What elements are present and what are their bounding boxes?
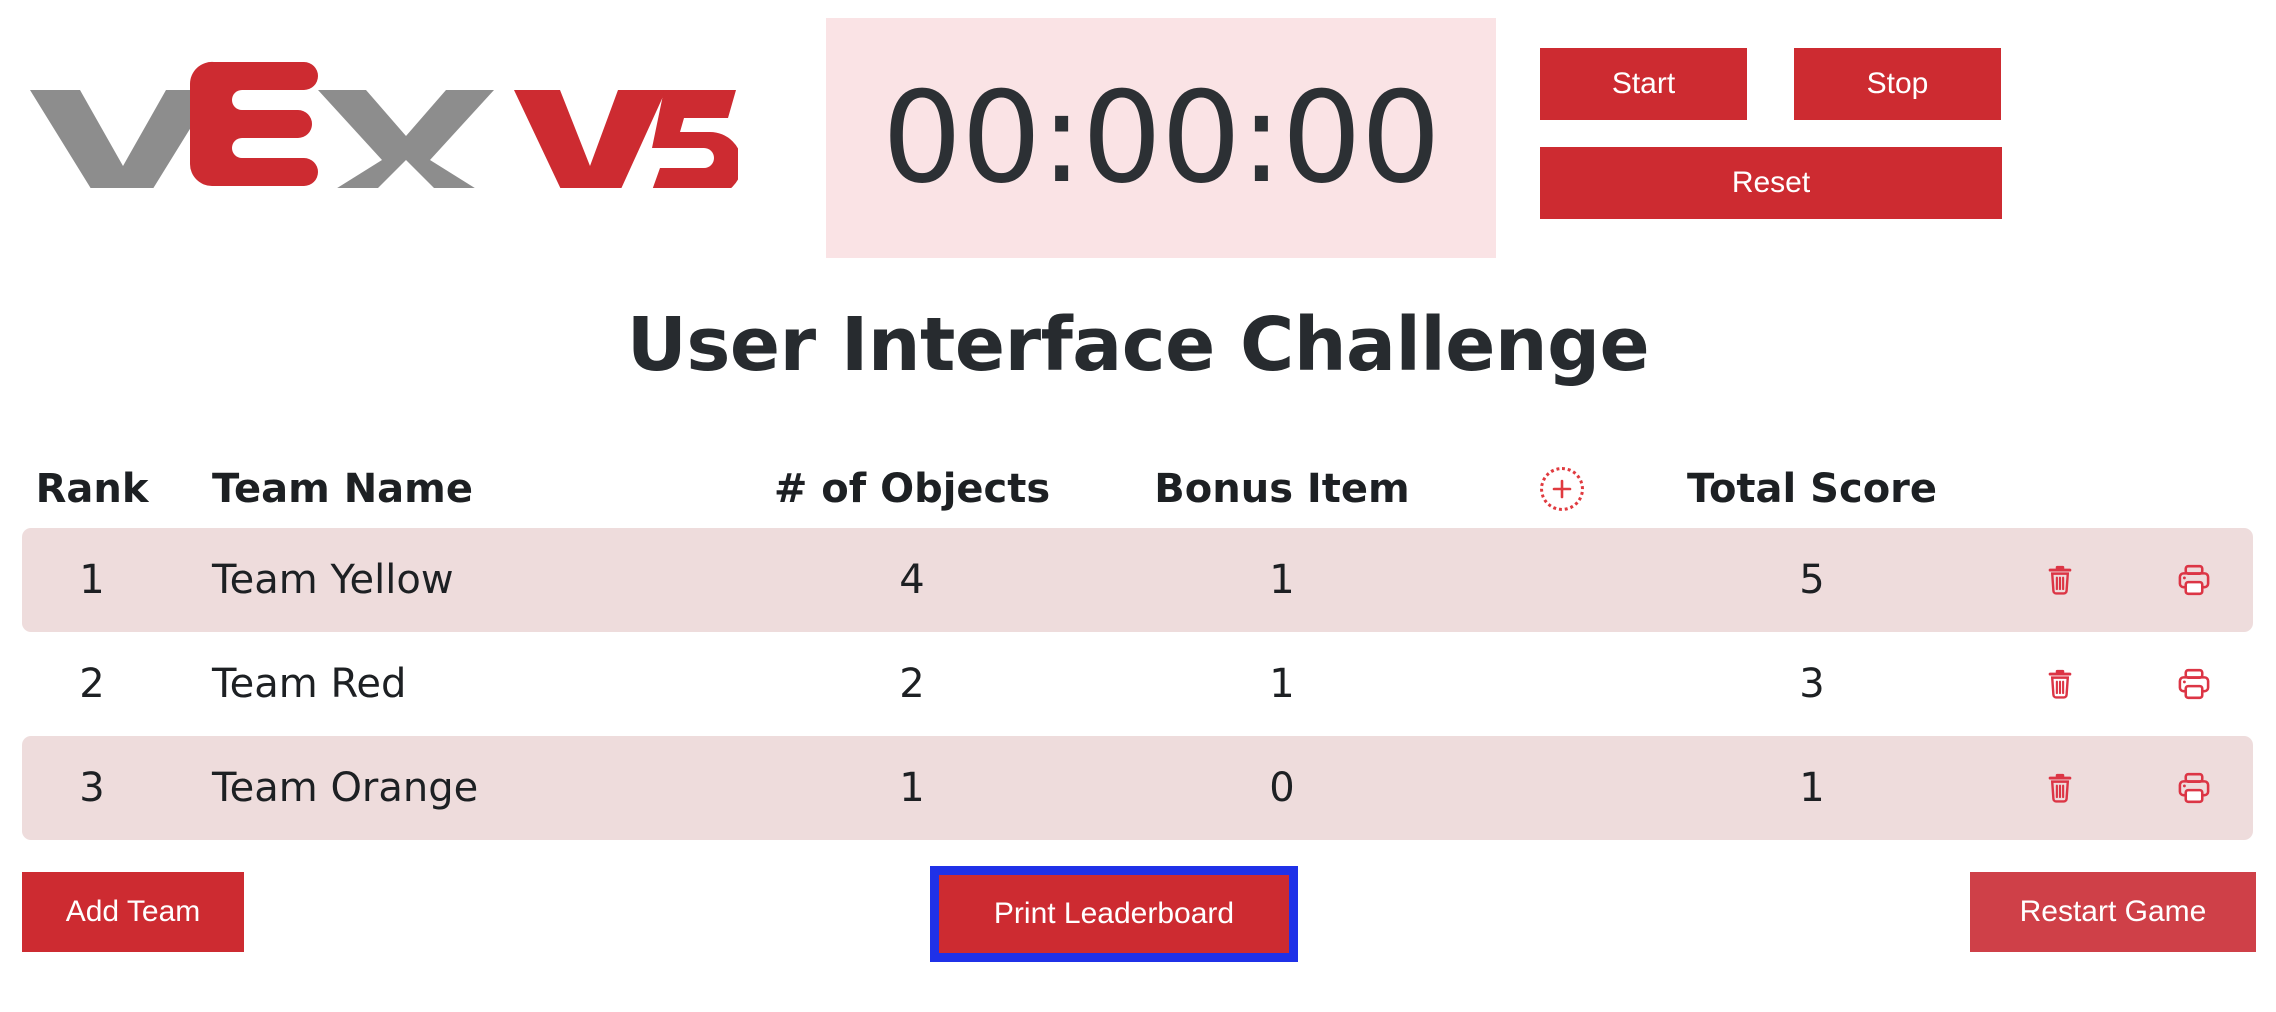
header-team-name: Team Name: [212, 450, 772, 528]
cell-total-score: 1: [1662, 736, 1962, 840]
cell-total-score: 5: [1662, 528, 1962, 632]
printer-icon[interactable]: [2168, 658, 2220, 710]
add-team-button[interactable]: Add Team: [22, 872, 244, 952]
cell-actions: [2012, 632, 2242, 736]
cell-objects[interactable]: 4: [762, 528, 1062, 632]
trash-icon[interactable]: [2034, 554, 2086, 606]
table-row: 1 Team Yellow 4 1 5: [22, 528, 2253, 632]
table-row: 2 Team Red 2 1 3: [22, 632, 2253, 736]
header-objects: # of Objects: [762, 450, 1062, 528]
cell-team-name[interactable]: Team Yellow: [212, 528, 772, 632]
leaderboard-table: Rank Team Name # of Objects Bonus Item T…: [22, 450, 2253, 840]
cell-total-score: 3: [1662, 632, 1962, 736]
cell-objects[interactable]: 1: [762, 736, 1062, 840]
printer-icon[interactable]: [2168, 762, 2220, 814]
page-title: User Interface Challenge: [0, 302, 2276, 388]
trash-icon[interactable]: [2034, 658, 2086, 710]
table-row: 3 Team Orange 1 0 1: [22, 736, 2253, 840]
cell-spacer: [1522, 528, 1602, 632]
header-add-column-cell: [1522, 450, 1602, 528]
cell-rank: 1: [22, 528, 162, 632]
cell-bonus-item[interactable]: 0: [1132, 736, 1432, 840]
cell-bonus-item[interactable]: 1: [1132, 528, 1432, 632]
header-bonus-item: Bonus Item: [1132, 450, 1432, 528]
trash-icon[interactable]: [2034, 762, 2086, 814]
cell-rank: 3: [22, 736, 162, 840]
cell-spacer: [1522, 632, 1602, 736]
header-total-score: Total Score: [1662, 450, 1962, 528]
header-rank: Rank: [22, 450, 162, 528]
timer-display: 00:00:00: [826, 18, 1496, 258]
cell-rank: 2: [22, 632, 162, 736]
print-leaderboard-button[interactable]: Print Leaderboard: [939, 875, 1289, 953]
timer-controls-top-row: Start Stop: [1540, 48, 2002, 120]
cell-actions: [2012, 528, 2242, 632]
top-bar: 00:00:00 Start Stop Reset: [0, 0, 2276, 262]
vex-v5-logo: [18, 48, 738, 188]
cell-team-name[interactable]: Team Orange: [212, 736, 772, 840]
cell-spacer: [1522, 736, 1602, 840]
restart-game-button[interactable]: Restart Game: [1970, 872, 2256, 952]
cell-team-name[interactable]: Team Red: [212, 632, 772, 736]
table-header-row: Rank Team Name # of Objects Bonus Item T…: [22, 450, 2253, 528]
plus-circle-dotted-icon[interactable]: [1540, 467, 1584, 511]
start-button[interactable]: Start: [1540, 48, 1747, 120]
cell-bonus-item[interactable]: 1: [1132, 632, 1432, 736]
timer-value: 00:00:00: [882, 75, 1440, 201]
header-actions: [2012, 450, 2242, 528]
cell-objects[interactable]: 2: [762, 632, 1062, 736]
reset-button[interactable]: Reset: [1540, 147, 2002, 219]
print-leaderboard-focus-ring: Print Leaderboard: [930, 866, 1298, 962]
app-root: 00:00:00 Start Stop Reset User Interface…: [0, 0, 2276, 1012]
timer-controls: Start Stop Reset: [1540, 48, 2002, 219]
footer-actions: Add Team Print Leaderboard Restart Game: [0, 872, 2276, 962]
printer-icon[interactable]: [2168, 554, 2220, 606]
cell-actions: [2012, 736, 2242, 840]
stop-button[interactable]: Stop: [1794, 48, 2001, 120]
